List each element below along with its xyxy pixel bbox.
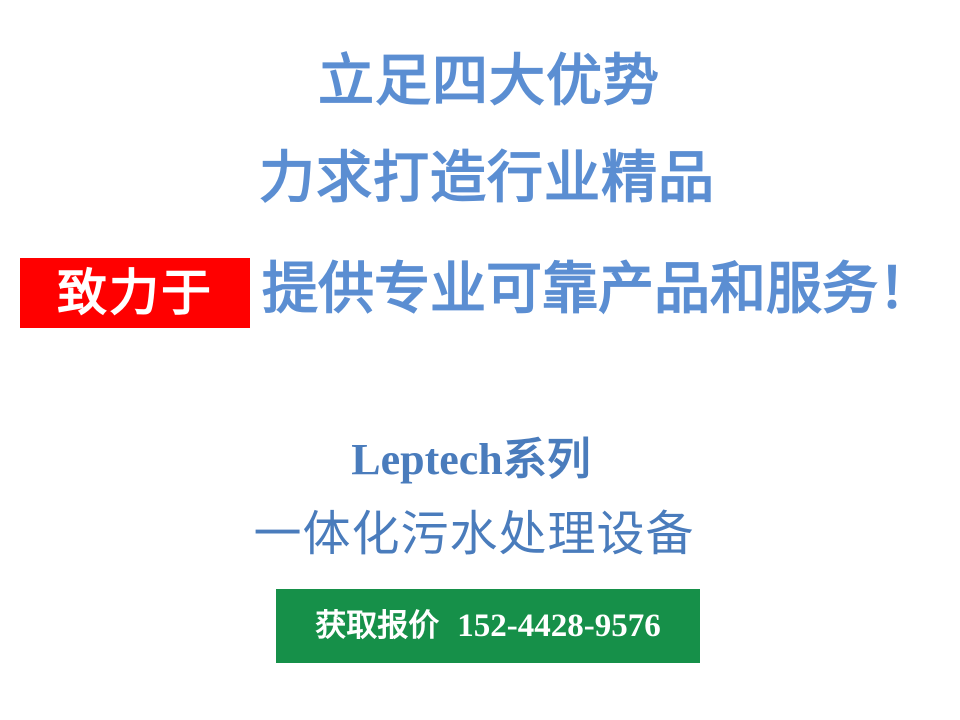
get-quote-button[interactable]: 获取报价 152-4428-9576 <box>276 589 700 663</box>
headline-line-3-text: 提供专业可靠产品和服务！ <box>262 254 934 324</box>
contact-phone-number[interactable]: 152-4428-9576 <box>457 609 660 643</box>
product-series-name: Leptech系列 <box>0 434 960 486</box>
headline-line-3: 致力于 提供专业可靠产品和服务！ <box>0 258 960 338</box>
promo-banner: 立足四大优势 力求打造行业精品 致力于 提供专业可靠产品和服务！ Leptech… <box>0 0 960 720</box>
commitment-tag: 致力于 <box>20 258 250 328</box>
headline-line-1: 立足四大优势 <box>0 47 960 115</box>
get-quote-label: 获取报价 <box>315 609 439 643</box>
headline-line-2: 力求打造行业精品 <box>0 144 960 212</box>
product-title: 一体化污水处理设备 <box>0 506 960 564</box>
